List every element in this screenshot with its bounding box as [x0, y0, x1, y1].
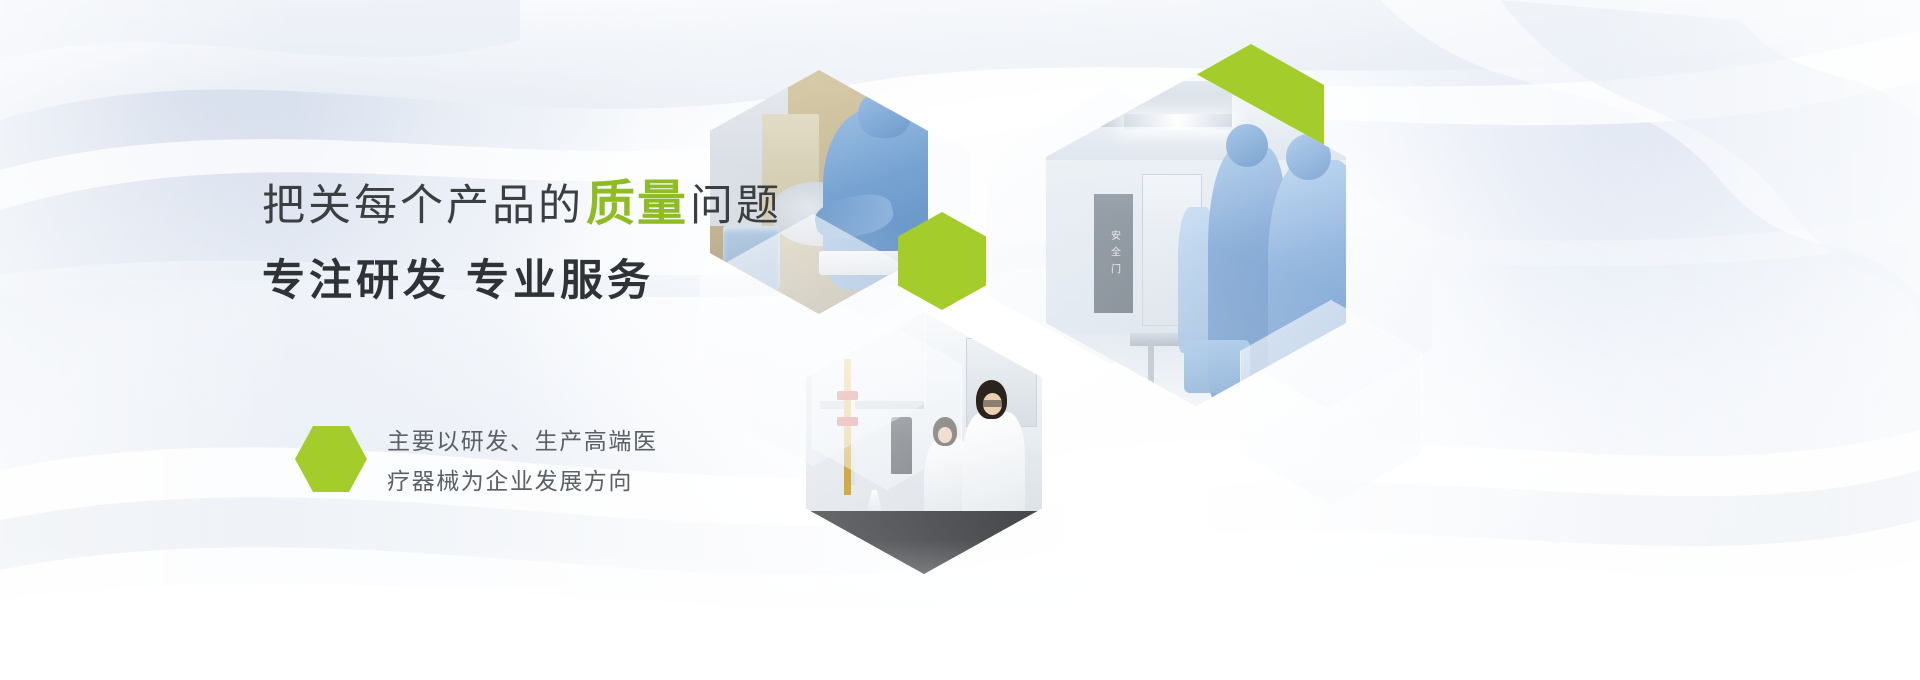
subtext-line-1: 主要以研发、生产高端医	[387, 422, 658, 462]
headline-secondary: 专注研发 专业服务	[262, 256, 882, 307]
headline-primary-part1: 把关每个产品的	[262, 182, 584, 230]
headline-primary: 把关每个产品的质量问题	[262, 176, 882, 234]
subtext-line-2: 疗器械为企业发展方向	[387, 462, 658, 502]
headline-primary-part2: 问题	[690, 182, 782, 230]
hero-banner: 把关每个产品的质量问题 专注研发 专业服务 主要以研发、生产高端医 疗器械为企业…	[0, 0, 1920, 680]
safety-door-sign	[1094, 194, 1133, 314]
green-hexagon-bullet-icon	[295, 426, 367, 492]
subtext-row: 主要以研发、生产高端医 疗器械为企业发展方向	[295, 418, 658, 501]
headline-primary-accent: 质量	[584, 177, 690, 231]
headline-block: 把关每个产品的质量问题 专注研发 专业服务	[262, 176, 882, 307]
subtext-block: 主要以研发、生产高端医 疗器械为企业发展方向	[387, 418, 658, 501]
